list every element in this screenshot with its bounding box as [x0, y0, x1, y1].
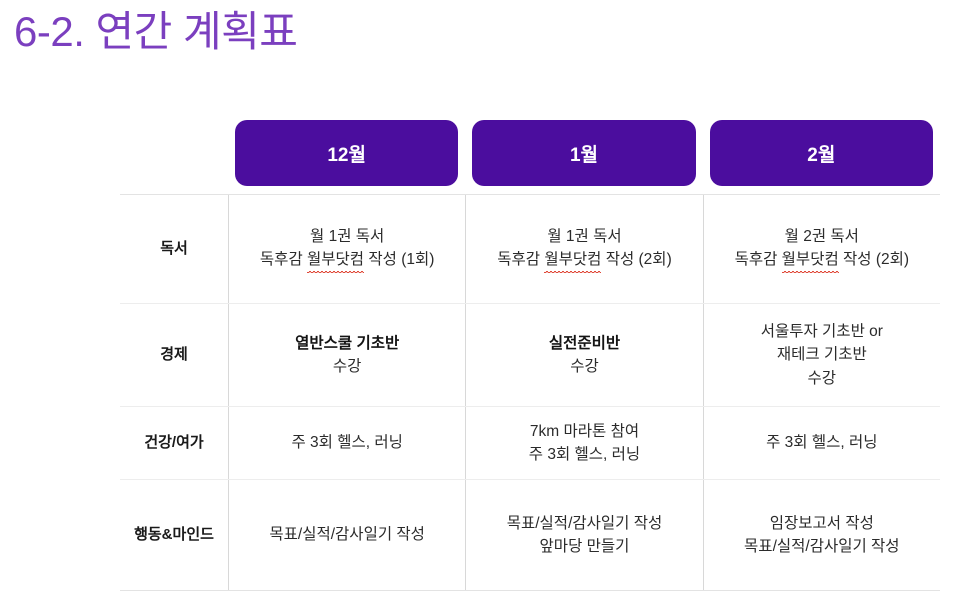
- cell-r3-c3: 주 3회 헬스, 러닝: [703, 407, 940, 479]
- table-header-row: 12월 1월 2월: [120, 112, 940, 194]
- cell-text-line: 실전준비반: [549, 332, 620, 355]
- cell-text-segment: 독후감: [497, 251, 544, 268]
- cell-text-line: 서울투자 기초반 or: [761, 320, 883, 343]
- table-row: 경제열반스쿨 기초반수강실전준비반수강서울투자 기초반 or재테크 기초반수강: [120, 303, 940, 406]
- month-header-cell-2: 1월: [465, 112, 702, 194]
- cell-text-segment: 작성 (2회): [601, 251, 671, 268]
- cell-text-line: 독후감 월부닷컴 작성 (1회): [260, 248, 434, 273]
- month-header-cell-3: 2월: [703, 112, 940, 194]
- cell-text-segment: 작성 (2회): [839, 251, 909, 268]
- cell-r2-c3: 서울투자 기초반 or재테크 기초반수강: [703, 304, 940, 406]
- cell-r4-c2: 목표/실적/감사일기 작성앞마당 만들기: [465, 480, 702, 590]
- cell-r3-c2: 7km 마라톤 참여주 3회 헬스, 러닝: [465, 407, 702, 479]
- cell-text-segment: 작성 (1회): [364, 251, 434, 268]
- month-pill-february[interactable]: 2월: [710, 120, 933, 186]
- row-label-line: &: [162, 525, 173, 545]
- cell-text-line: 독후감 월부닷컴 작성 (2회): [735, 248, 909, 273]
- cell-r2-c2: 실전준비반수강: [465, 304, 702, 406]
- table-row: 행동&마인드목표/실적/감사일기 작성목표/실적/감사일기 작성앞마당 만들기임…: [120, 479, 940, 590]
- cell-text-segment: 독후감: [260, 251, 307, 268]
- cell-r3-c1: 주 3회 헬스, 러닝: [228, 407, 465, 479]
- spellcheck-flagged-word: 월부닷컴: [307, 248, 364, 273]
- table-row: 독서월 1권 독서독후감 월부닷컴 작성 (1회)월 1권 독서독후감 월부닷컴…: [120, 195, 940, 303]
- row-label-3: 건강/여가: [120, 407, 228, 479]
- spellcheck-flagged-word: 월부닷컴: [544, 248, 601, 273]
- cell-text-line: 월 2권 독서: [785, 225, 859, 248]
- cell-text-line: 앞마당 만들기: [540, 535, 630, 558]
- row-label-line: 건강/여가: [144, 433, 203, 453]
- row-label-line: 경제: [160, 345, 188, 365]
- cell-text-line: 월 1권 독서: [310, 225, 384, 248]
- cell-r1-c2: 월 1권 독서독후감 월부닷컴 작성 (2회): [465, 195, 702, 303]
- cell-text-segment: 독후감: [735, 251, 782, 268]
- row-label-line: 독서: [160, 239, 188, 259]
- cell-r1-c3: 월 2권 독서독후감 월부닷컴 작성 (2회): [703, 195, 940, 303]
- cell-text-line: 목표/실적/감사일기 작성: [507, 512, 663, 535]
- cell-text-line: 열반스쿨 기초반: [295, 332, 399, 355]
- cell-text-line: 수강: [570, 355, 599, 378]
- cell-text-line: 월 1권 독서: [547, 225, 621, 248]
- table-body: 독서월 1권 독서독후감 월부닷컴 작성 (1회)월 1권 독서독후감 월부닷컴…: [120, 194, 940, 591]
- spellcheck-flagged-word: 월부닷컴: [782, 248, 839, 273]
- row-label-2: 경제: [120, 304, 228, 406]
- cell-r2-c1: 열반스쿨 기초반수강: [228, 304, 465, 406]
- cell-r4-c1: 목표/실적/감사일기 작성: [228, 480, 465, 590]
- cell-text-line: 주 3회 헬스, 러닝: [529, 443, 640, 466]
- row-label-line: 마인드: [173, 525, 214, 545]
- cell-text-line: 주 3회 헬스, 러닝: [291, 431, 402, 454]
- cell-text-line: 7km 마라톤 참여: [530, 420, 639, 443]
- month-pill-december[interactable]: 12월: [235, 120, 458, 186]
- cell-text-line: 수강: [808, 367, 837, 390]
- table-row: 건강/여가주 3회 헬스, 러닝7km 마라톤 참여주 3회 헬스, 러닝주 3…: [120, 406, 940, 479]
- cell-text-line: 주 3회 헬스, 러닝: [766, 431, 877, 454]
- annual-plan-table: 12월 1월 2월 독서월 1권 독서독후감 월부닷컴 작성 (1회)월 1권 …: [120, 112, 940, 591]
- cell-text-line: 목표/실적/감사일기 작성: [744, 535, 900, 558]
- cell-text-line: 목표/실적/감사일기 작성: [269, 523, 425, 546]
- cell-text-line: 임장보고서 작성: [770, 512, 874, 535]
- row-label-4: 행동&마인드: [120, 480, 228, 590]
- cell-r1-c1: 월 1권 독서독후감 월부닷컴 작성 (1회): [228, 195, 465, 303]
- cell-text-line: 재테크 기초반: [777, 343, 867, 366]
- cell-text-line: 수강: [333, 355, 362, 378]
- cell-r4-c3: 임장보고서 작성목표/실적/감사일기 작성: [703, 480, 940, 590]
- month-pill-january[interactable]: 1월: [472, 120, 695, 186]
- month-header-cell-1: 12월: [228, 112, 465, 194]
- page-title: 6-2. 연간 계획표: [14, 6, 297, 59]
- row-label-1: 독서: [120, 195, 228, 303]
- cell-text-line: 독후감 월부닷컴 작성 (2회): [497, 248, 671, 273]
- row-label-line: 행동: [134, 525, 162, 545]
